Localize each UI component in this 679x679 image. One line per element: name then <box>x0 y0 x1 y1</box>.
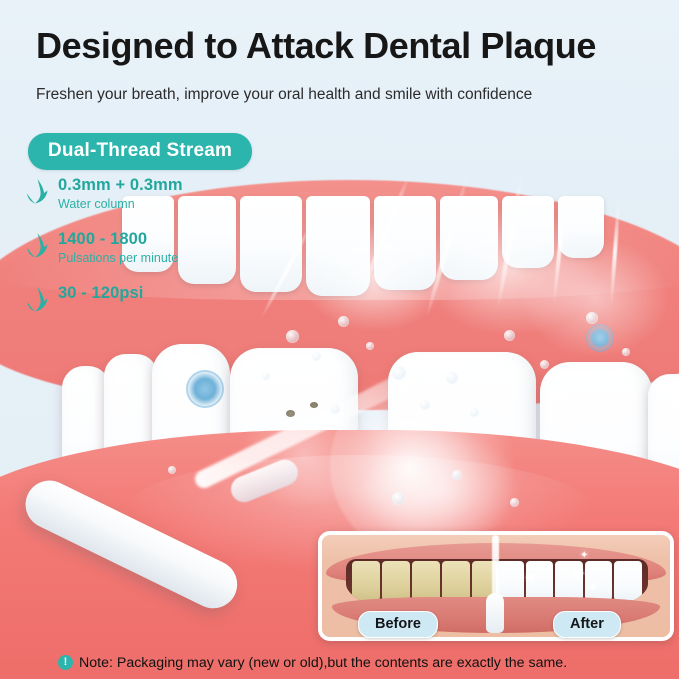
feature-item: 30 - 120psi <box>24 284 324 318</box>
feature-value: 1400 - 1800 <box>58 230 324 249</box>
feature-item: 0.3mm + 0.3mm Water column <box>24 176 324 212</box>
sparkle-icon: ✦ <box>580 551 588 561</box>
bacteria-cluster <box>588 326 612 350</box>
feature-label: Water column <box>58 196 324 212</box>
tooth <box>374 196 436 290</box>
info-exclamation-icon: ! <box>58 655 73 670</box>
feature-value: 30 - 120psi <box>58 284 324 303</box>
after-label: After <box>553 611 621 638</box>
feature-label: Pulsations per minute <box>58 250 324 266</box>
tartar-spot <box>310 402 318 408</box>
tooth <box>502 196 554 268</box>
before-label: Before <box>358 611 438 638</box>
tooth <box>440 196 498 280</box>
feature-item: 1400 - 1800 Pulsations per minute <box>24 230 324 266</box>
page-subtitle: Freshen your breath, improve your oral h… <box>36 86 652 104</box>
product-feature-poster: Designed to Attack Dental Plaque Freshen… <box>0 0 679 679</box>
up-arrow-icon <box>24 285 50 313</box>
up-arrow-icon <box>24 177 50 205</box>
packaging-note: ! Note: Packaging may vary (new or old),… <box>0 646 679 679</box>
note-text: Note: Packaging may vary (new or old),bu… <box>79 655 567 671</box>
page-title: Designed to Attack Dental Plaque <box>36 25 652 67</box>
tooth <box>558 196 604 258</box>
up-arrow-icon <box>24 231 50 259</box>
feature-spec-list: 0.3mm + 0.3mm Water column 1400 - 1800 P… <box>24 176 324 336</box>
dual-thread-stream-badge: Dual-Thread Stream <box>28 133 252 170</box>
inset-nozzle-tip <box>486 593 504 633</box>
bacteria-cluster <box>188 372 222 406</box>
feature-value: 0.3mm + 0.3mm <box>58 176 324 195</box>
sparkle-icon: ✦ <box>588 581 598 593</box>
sparkle-icon: ✦ <box>570 565 586 584</box>
sparkle-icon: ✦ <box>524 571 537 586</box>
tartar-spot <box>286 410 295 417</box>
